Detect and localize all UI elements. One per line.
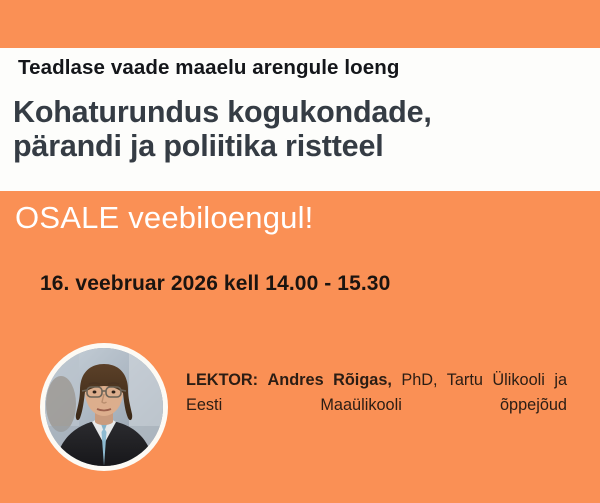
headline-line-1: Kohaturundus kogukondade, (13, 95, 432, 129)
event-poster: Teadlase vaade maaelu arengule loeng Koh… (0, 0, 600, 503)
lecturer-label: LEKTOR: (186, 371, 258, 389)
call-to-action-text: OSALE veebiloengul! (15, 200, 314, 236)
page-title: Kohaturundus kogukondade, pärandi ja pol… (13, 95, 585, 163)
portrait-photo-icon (45, 348, 163, 466)
avatar (40, 343, 168, 471)
poster-kicker: Teadlase vaade maaelu arengule loeng (18, 56, 400, 80)
lecturer-name: Andres Rõigas, (268, 371, 392, 389)
headline-line-2: pärandi ja poliitika ristteel (13, 129, 585, 163)
event-datetime: 16. veebruar 2026 kell 14.00 - 15.30 (40, 272, 390, 296)
lecturer-section: LEKTOR: Andres Rõigas, PhD, Tartu Ülikoo… (0, 340, 600, 480)
lecturer-info: LEKTOR: Andres Rõigas, PhD, Tartu Ülikoo… (186, 368, 567, 444)
